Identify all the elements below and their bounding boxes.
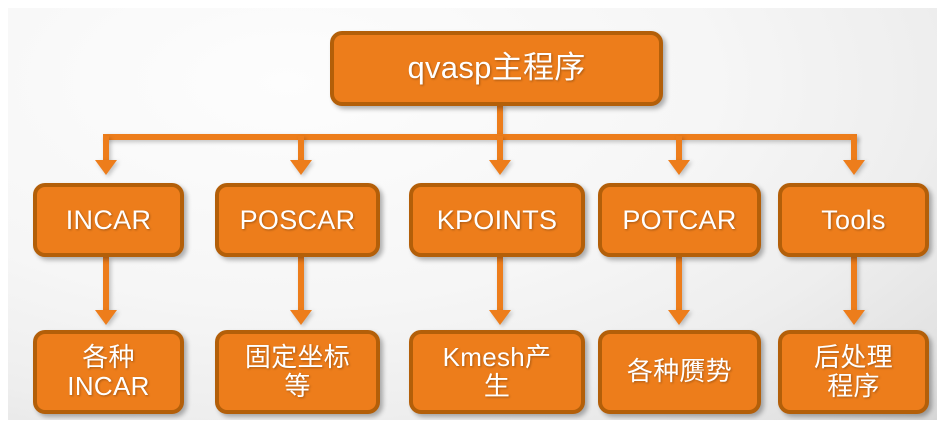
node-detail-potcar[interactable]: 各种赝势 — [598, 330, 761, 414]
connector-drop-poscar — [298, 136, 304, 162]
connector-incar-detail — [103, 257, 109, 312]
connector-drop-potcar — [676, 136, 682, 162]
node-module-poscar[interactable]: POSCAR — [215, 183, 380, 257]
node-module-kpoints[interactable]: KPOINTS — [409, 183, 585, 257]
connector-root-stem — [497, 104, 503, 137]
node-root-qvasp[interactable]: qvasp主程序 — [330, 31, 663, 106]
node-detail-incar[interactable]: 各种 INCAR — [33, 330, 184, 414]
connector-drop-incar — [103, 136, 109, 162]
connector-tools-detail — [851, 257, 857, 312]
node-module-tools[interactable]: Tools — [778, 183, 929, 257]
arrowhead-drop-incar — [95, 160, 117, 175]
arrowhead-drop-tools — [843, 160, 865, 175]
arrowhead-drop-kpoints — [489, 160, 511, 175]
slide: qvasp主程序 INCAR POSCAR KPOINTS POTCAR Too… — [0, 0, 945, 428]
connector-poscar-detail — [298, 257, 304, 312]
connector-drop-tools — [851, 136, 857, 162]
arrowhead-tools-detail — [843, 310, 865, 325]
arrowhead-potcar-detail — [668, 310, 690, 325]
arrowhead-incar-detail — [95, 310, 117, 325]
connector-drop-kpoints — [497, 136, 503, 162]
node-module-potcar[interactable]: POTCAR — [598, 183, 761, 257]
node-detail-tools[interactable]: 后处理 程序 — [778, 330, 929, 414]
node-detail-kpoints[interactable]: Kmesh产 生 — [409, 330, 585, 414]
arrowhead-drop-potcar — [668, 160, 690, 175]
node-module-incar[interactable]: INCAR — [33, 183, 184, 257]
connector-potcar-detail — [676, 257, 682, 312]
arrowhead-poscar-detail — [290, 310, 312, 325]
diagram-canvas: qvasp主程序 INCAR POSCAR KPOINTS POTCAR Too… — [8, 8, 937, 420]
connector-horizontal-bus — [103, 134, 857, 140]
arrowhead-drop-poscar — [290, 160, 312, 175]
arrowhead-kpoints-detail — [489, 310, 511, 325]
node-detail-poscar[interactable]: 固定坐标 等 — [215, 330, 380, 414]
connector-kpoints-detail — [497, 257, 503, 312]
